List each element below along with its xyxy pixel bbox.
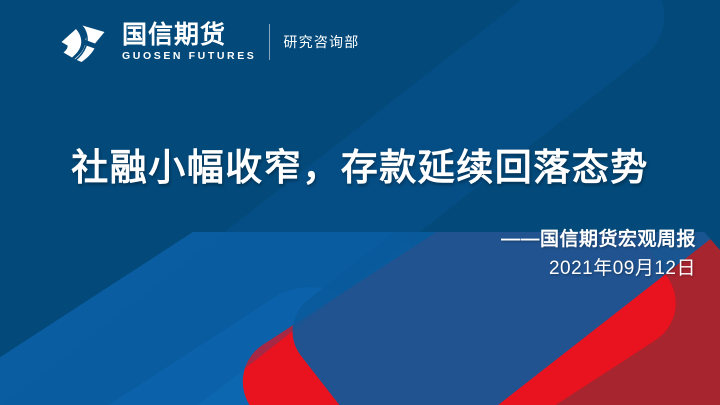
- subtitle-block: ——国信期货宏观周报 2021年09月12日: [501, 228, 696, 281]
- page-title: 社融小幅收窄，存款延续回落态势: [0, 146, 720, 190]
- logo-divider: [269, 24, 270, 60]
- logo-wordmark: 国信期货 GUOSEN FUTURES: [122, 22, 256, 63]
- report-date: 2021年09月12日: [501, 256, 696, 282]
- logo-department-label: 研究咨询部: [283, 35, 359, 49]
- guosen-folded-mark-icon: [58, 19, 110, 65]
- logo-company-name-en: GUOSEN FUTURES: [122, 51, 256, 63]
- shape-top-right-cover: [500, 0, 720, 250]
- shape-dark-red-panel: [169, 167, 720, 405]
- title-block: 社融小幅收窄，存款延续回落态势: [0, 146, 720, 190]
- presentation-cover-slide: 国信期货 GUOSEN FUTURES 研究咨询部 社融小幅收窄，存款延续回落态…: [0, 0, 720, 405]
- shape-light-blue-panel: [0, 262, 493, 405]
- logo-company-name-cn: 国信期货: [122, 22, 256, 49]
- brand-logo-lockup: 国信期货 GUOSEN FUTURES 研究咨询部: [58, 16, 359, 68]
- shape-faint-blue-band: [0, 39, 720, 405]
- report-series-label: ——国信期货宏观周报: [501, 228, 696, 252]
